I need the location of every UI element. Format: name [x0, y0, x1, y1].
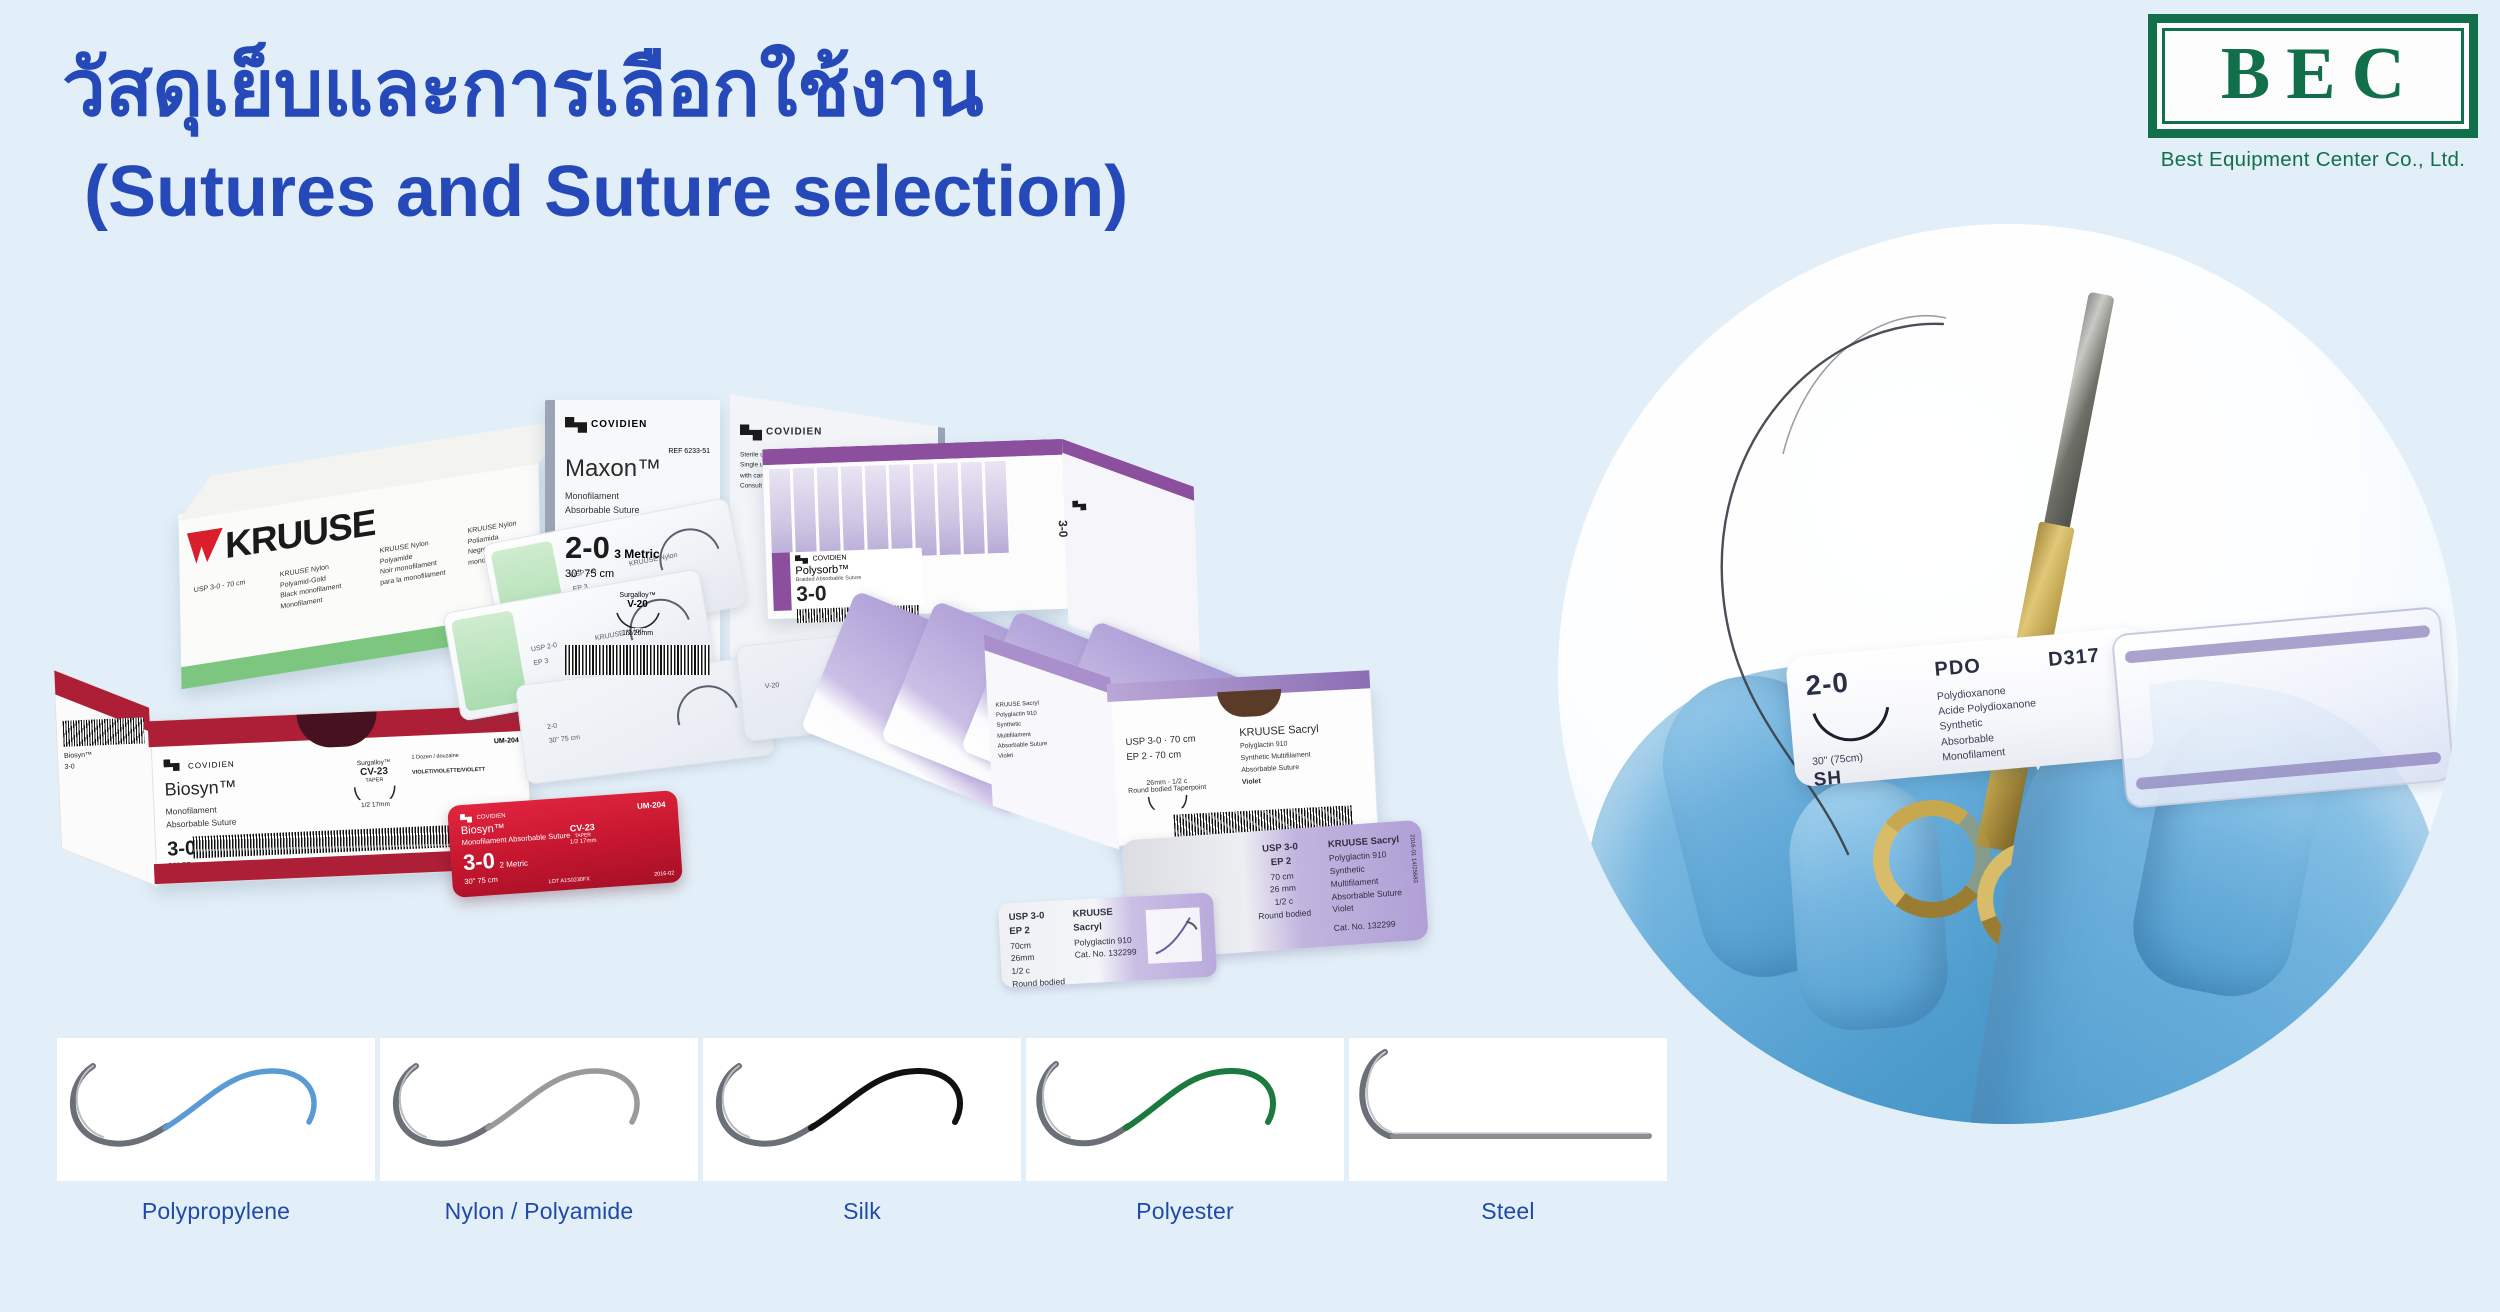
gloved-hands-needle-holder-photo: 2-0 30" (75cm) SH 1/2 26mm PDO Polydioxa… — [1558, 224, 2458, 1124]
logo-tagline: Best Equipment Center Co., Ltd. — [2148, 148, 2478, 172]
biosyn-box-left-panel: Biosyn™ 3-0 — [53, 669, 158, 887]
sacryl-small-size-usp: USP 3-0 — [1008, 910, 1044, 923]
maxon-needle-brand: Surgalloy™ — [565, 592, 710, 599]
sacryl-pouch-size-usp: USP 3-0 — [1262, 841, 1298, 854]
sacryl-small-cat-no: Cat. No. 132299 — [1074, 947, 1136, 960]
kruuse-desc-col-2: KRUUSE NylonPolyamideNoir monofilamentpa… — [380, 534, 461, 589]
biosyn-brand: COVIDIEN — [188, 760, 235, 771]
sacryl-desc: Polyglactin 910Synthetic MultifilamentAb… — [1240, 735, 1357, 789]
biosyn-box-notch — [296, 711, 377, 748]
sacryl-pouch-needle-curve: 1/2 c — [1274, 896, 1293, 907]
logo-inner-frame: BEC — [2162, 28, 2464, 124]
maxon-needle-detail: 1/2 26mm — [565, 630, 710, 637]
swatch-labels: Polypropylene Nylon / Polyamide Silk Pol… — [57, 1198, 1667, 1225]
maxon-length: 30" 75 cm — [565, 568, 710, 580]
sacryl-pouch-size-ep: EP 2 — [1271, 856, 1292, 868]
maxon-product-name: Maxon™ — [565, 455, 710, 483]
covidien-mark-icon — [740, 424, 762, 440]
sacryl-size-ep: EP 2 - 70 cm — [1126, 746, 1205, 765]
biosyn-red-packet: COVIDIEN UM-204 Biosyn™ Monofilament Abs… — [447, 790, 683, 898]
polysorb-box: 3-0 COVIDIEN Polysorb™ Braided Absorbabl… — [762, 439, 1068, 619]
maxon-size-row: 2-0 3 Metric — [565, 530, 710, 566]
kruuse-brand-text: KRUUSE — [225, 502, 376, 568]
sacryl-pouch-left-col: USP 3-0 EP 2 70 cm 26 mm 1/2 c Round bod… — [1240, 839, 1325, 924]
swatch-polypropylene[interactable] — [57, 1038, 375, 1181]
swatch-label-silk: Silk — [703, 1198, 1021, 1225]
maxon-side-brand: COVIDIEN — [766, 426, 822, 437]
sacryl-small-left-col: USP 3-0 EP 2 70cm 26mm 1/2 c Round bodie… — [1008, 908, 1069, 987]
biosyn-packet-brand: COVIDIEN — [476, 813, 505, 821]
polysorb-front-label: COVIDIEN Polysorb™ Braided Absorbable Su… — [772, 548, 924, 611]
sacryl-small-brand: KRUUSE Sacryl — [1072, 907, 1113, 934]
maxon-barcode — [565, 645, 710, 675]
sacryl-box-notch — [1218, 689, 1283, 718]
maxon-needle-diagram — [612, 610, 664, 628]
biosyn-desc: MonofilamentAbsorbable Suture — [165, 798, 336, 831]
suture-packet-tray — [2111, 606, 2455, 809]
biosyn-packet-ref: UM-204 — [637, 800, 666, 811]
polysorb-side-text: 3-0 — [1063, 475, 1196, 563]
biosyn-packet-needle-group: CV-23 TAPER 1/2 17mm — [569, 822, 597, 846]
biosyn-right-col: 1 Dozen / douzaine VIOLET/VIOLETTE/VIOLE… — [411, 749, 522, 778]
packet-material-desc: PolydioxanoneAcide PolydioxanoneSyntheti… — [1936, 681, 2040, 765]
packet-code: D317 — [2047, 645, 2101, 672]
covidien-mark-icon — [565, 417, 587, 433]
kruuse-desc-col-1: KRUUSE NylonPolyamid-GoldBlack monofilam… — [280, 556, 371, 612]
biosyn-ref: UM-204 — [494, 737, 519, 745]
packet-needle-arc-icon — [666, 674, 750, 758]
kruuse-size-text: USP 3-0 - 70 cm — [194, 575, 264, 597]
sacryl-small-desc: Polyglactin 910 — [1074, 934, 1132, 947]
covidien-mark-icon — [1072, 500, 1086, 510]
sacryl-pouch-length: 70 cm — [1270, 870, 1294, 882]
title-english: (Sutures and Suture selection) — [84, 153, 1128, 232]
polyester-needle-diagram — [1026, 1038, 1344, 1181]
covidien-mark-icon — [795, 555, 808, 564]
polysorb-inner-pouches — [769, 460, 1022, 561]
kruuse-packet-size: USP 2-0 — [530, 641, 558, 656]
maxon-ref: REF 6233-51 — [565, 448, 710, 455]
swatch-polyester[interactable] — [1026, 1038, 1344, 1181]
sacryl-small-needle-type: Round bodied Taperpoint — [1012, 976, 1065, 988]
page-title: วัสดุเย็บและการเลือกใช้งาน (Sutures and … — [62, 36, 1128, 232]
tray-band-bottom — [2136, 751, 2442, 790]
maxon-metric: 3 Metric — [614, 547, 659, 561]
biosyn-packet-expiry: 2016-02 — [654, 870, 675, 877]
kruuse-sacryl-box: KRUUSE SacrylPolyglactin 910SyntheticMul… — [1106, 683, 1378, 847]
sacryl-front-right-col: KRUUSE Sacryl Polyglactin 910Synthetic M… — [1239, 721, 1357, 788]
swatch-label-steel: Steel — [1349, 1198, 1667, 1225]
maxon-brand-row: COVIDIEN — [565, 416, 710, 434]
kruuse-packet-code: EP 3 — [533, 657, 550, 670]
packet-material: PDO — [1934, 650, 2034, 681]
biosyn-product-name: Biosyn™ — [164, 772, 335, 800]
sacryl-pouch-needle-mm: 26 mm — [1270, 883, 1297, 895]
biosyn-left-barcode — [63, 717, 145, 747]
biosyn-packet-size: 3-0 — [462, 848, 495, 875]
maxon-desc: MonofilamentAbsorbable Suture — [565, 490, 710, 517]
swatch-label-polypropylene: Polypropylene — [57, 1198, 375, 1225]
packet-material-group: PDO PolydioxanoneAcide PolydioxanoneSynt… — [1934, 650, 2041, 765]
packet-needle-diagram — [1807, 701, 1896, 750]
swatch-silk[interactable] — [703, 1038, 1021, 1181]
biosyn-left-text: Biosyn™ 3-0 — [55, 687, 153, 803]
steel-needle-diagram — [1349, 1038, 1667, 1181]
sacryl-pouch-brand: KRUUSE Sacryl — [1328, 834, 1400, 850]
sacryl-pouch-right-col: KRUUSE Sacryl Polyglactin 910Synthetic M… — [1328, 833, 1415, 935]
swatch-nylon-polyamide[interactable] — [380, 1038, 698, 1181]
biosyn-needle-detail: 1/2 17mm — [351, 800, 399, 809]
maxon-needle-group: Surgalloy™ V-20 1/2 26mm — [565, 592, 710, 637]
kruuse-sacryl-pouch-small: USP 3-0 EP 2 70cm 26mm 1/2 c Round bodie… — [998, 892, 1217, 987]
swatch-steel[interactable] — [1349, 1038, 1667, 1181]
covidien-mark-icon — [460, 813, 473, 823]
needle-holder-jaws — [2041, 292, 2114, 542]
sacryl-needle-group: 26mm - 1/2 c Round bodied Taperpoint — [1128, 777, 1208, 813]
biosyn-packet-metric: 2 Metric — [499, 859, 528, 870]
kruuse-logo-mark-icon — [187, 528, 224, 566]
maxon-packet-length: 30" 75 cm — [548, 733, 580, 747]
sacryl-small-length: 70cm — [1010, 940, 1031, 951]
silk-needle-diagram — [703, 1038, 1021, 1181]
logo-mark-text: BEC — [2169, 37, 2457, 111]
swatch-label-nylon-polyamide: Nylon / Polyamide — [380, 1198, 698, 1225]
sacryl-small-needle-mm: 26mm — [1011, 952, 1035, 963]
biosyn-needle-diagram — [351, 782, 400, 800]
sacryl-small-right-col: KRUUSE Sacryl Polyglactin 910 Cat. No. 1… — [1072, 904, 1145, 962]
maxon-packet-needle: V-20 — [765, 681, 780, 693]
sacryl-small-needle-window-icon — [1145, 907, 1202, 964]
sacryl-front-left-col: USP 3-0 · 70 cm EP 2 - 70 cm 26mm - 1/2 … — [1125, 731, 1207, 813]
sacryl-small-needle-curve: 1/2 c — [1011, 965, 1030, 976]
logo-outer-frame: BEC — [2148, 14, 2478, 138]
packet-size-group: 2-0 30" (75cm) SH 1/2 26mm — [1804, 663, 1902, 788]
bec-logo: BEC Best Equipment Center Co., Ltd. — [2148, 14, 2478, 172]
biosyn-needle-group: Surgalloy™ CV-23 TAPER 1/2 17mm — [350, 758, 400, 809]
banner-root: BEC Best Equipment Center Co., Ltd. วัสด… — [0, 0, 2500, 1312]
nylon-needle-diagram — [380, 1038, 698, 1181]
maxon-size: 2-0 — [565, 530, 610, 565]
suture-products-photo: KRUUSE USP 3-0 - 70 cm KRUUSE NylonPolya… — [120, 420, 1550, 980]
packet-size: 2-0 — [1804, 663, 1892, 702]
sacryl-side-text: KRUUSE SacrylPolyglactin 910SyntheticMul… — [986, 669, 1116, 788]
sacryl-pouch-cat-no: Cat. No. 132299 — [1333, 916, 1414, 934]
tray-band-top — [2125, 625, 2431, 664]
maxon-brand: COVIDIEN — [591, 419, 647, 430]
title-thai: วัสดุเย็บและการเลือกใช้งาน — [62, 36, 1128, 141]
suture-material-swatches — [57, 1038, 1667, 1181]
sacryl-pouch-needle-type: Round bodied — [1258, 907, 1312, 921]
sacryl-needle-diagram — [1144, 792, 1191, 810]
maxon-needle: V-20 — [565, 599, 710, 610]
polypropylene-needle-diagram — [57, 1038, 375, 1181]
polysorb-brand: COVIDIEN — [813, 554, 847, 562]
polysorb-side-size: 3-0 — [1052, 520, 1076, 635]
maxon-packet-size: 2-0 — [547, 722, 558, 734]
biosyn-quantity: 1 Dozen / douzaine — [411, 749, 521, 763]
swatch-label-polyester: Polyester — [1026, 1198, 1344, 1225]
biosyn-color-note: VIOLET/VIOLETTE/VIOLETT — [412, 764, 522, 778]
packet-code-group: D317 — [2047, 645, 2101, 672]
maxon-box: COVIDIEN Sterile unless package is damag… — [545, 400, 720, 700]
biosyn-brand-row: COVIDIEN — [163, 749, 334, 774]
covidien-mark-icon — [163, 759, 180, 772]
sacryl-small-size-ep: EP 2 — [1009, 925, 1030, 937]
